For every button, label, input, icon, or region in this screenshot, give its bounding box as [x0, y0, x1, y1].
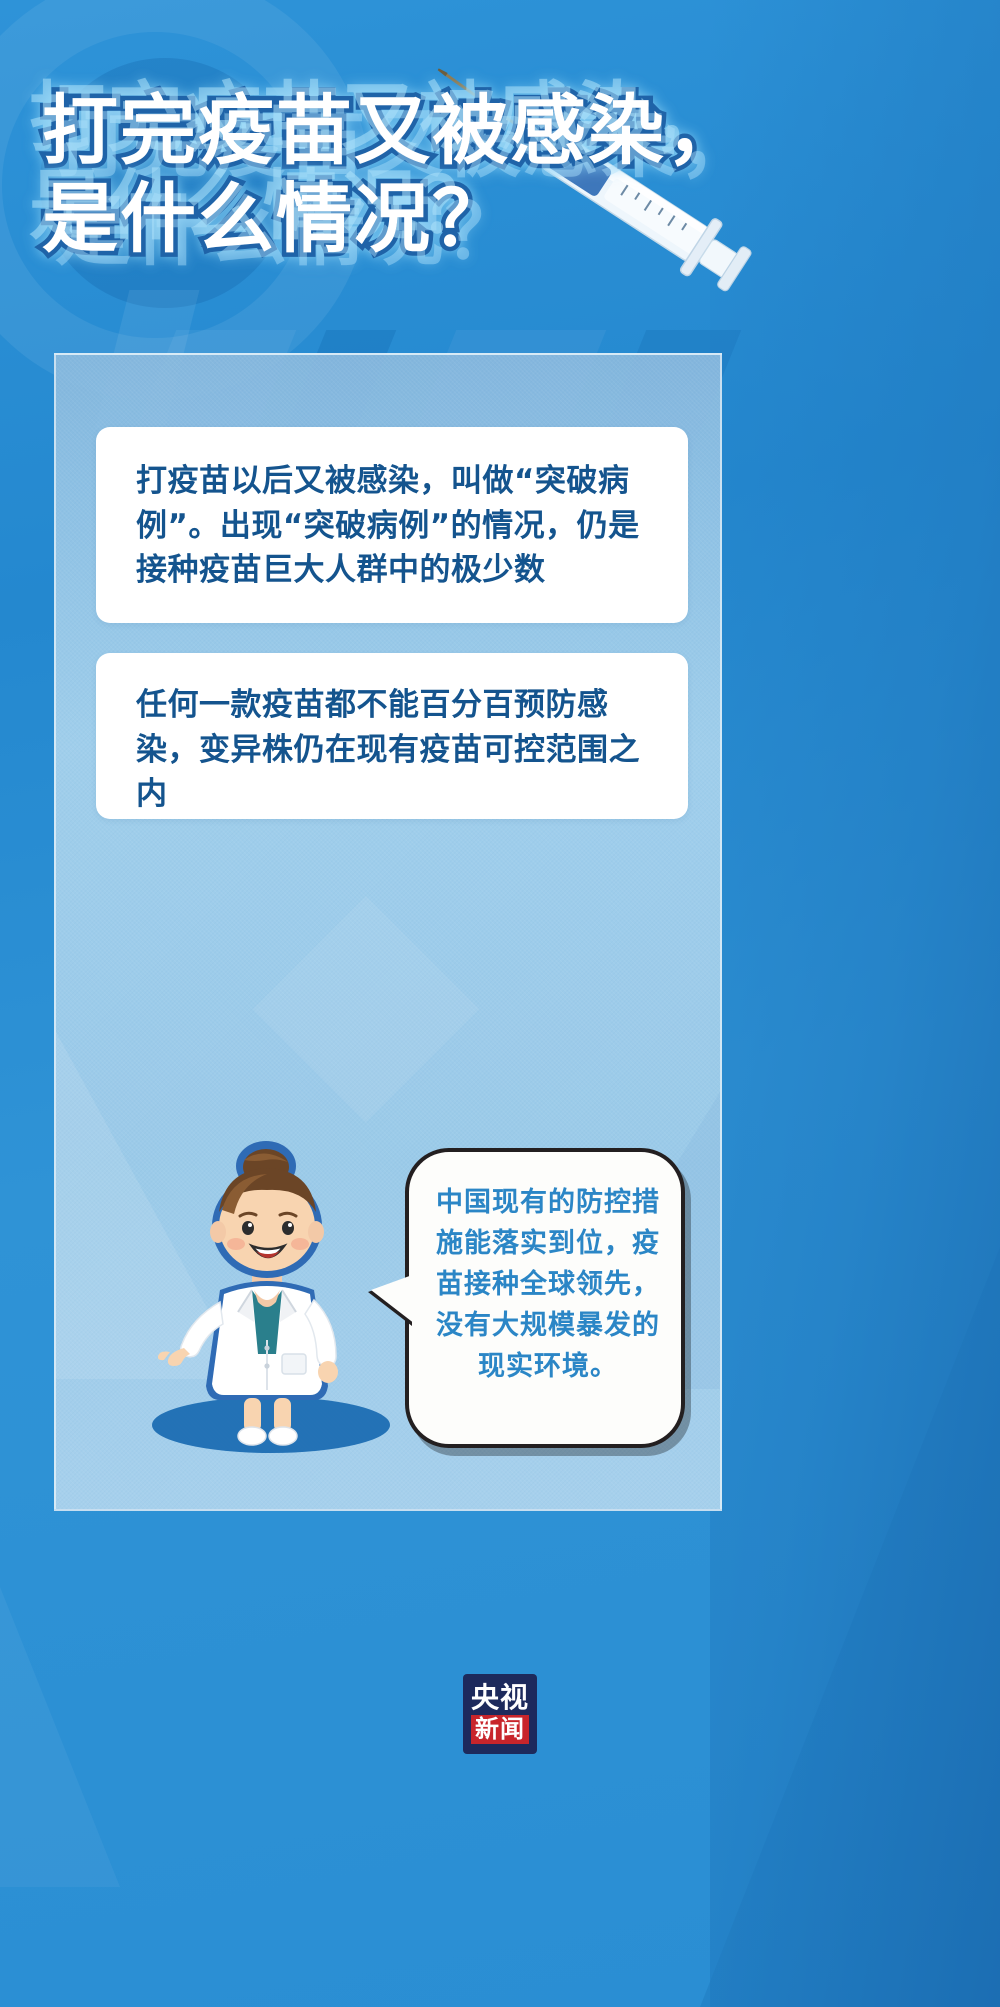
- logo-top-text: 央视: [471, 1684, 529, 1712]
- speech-bubble: 中国现有的防控措施能落实到位，疫苗接种全球领先，没有大规模暴发的现实环境。: [405, 1148, 685, 1448]
- speech-bubble-text: 中国现有的防控措施能落实到位，疫苗接种全球领先，没有大规模暴发的现实环境。: [405, 1148, 685, 1448]
- info-card: 打疫苗以后又被感染，叫做“突破病例”。出现“突破病例”的情况，仍是接种疫苗巨大人…: [96, 427, 688, 623]
- cctv-news-logo: 央视 新闻: [463, 1674, 537, 1754]
- info-card-text: 打疫苗以后又被感染，叫做“突破病例”。出现“突破病例”的情况，仍是接种疫苗巨大人…: [96, 427, 688, 593]
- doctor-character-icon: [148, 1140, 388, 1470]
- page-title-line-2: 是什么情况？: [42, 180, 802, 258]
- background-right-shade: [710, 0, 1000, 2007]
- page-title-line-1: 打完疫苗又被感染，: [42, 92, 802, 170]
- info-card: 任何一款疫苗都不能百分百预防感染，变异株仍在现有疫苗可控范围之内: [96, 653, 688, 819]
- panel-diamond-shape: [253, 896, 479, 1122]
- background-triangle-left: [0, 1587, 120, 1887]
- page-title: 打完疫苗又被感染， 是什么情况？: [42, 92, 802, 259]
- info-card-text: 任何一款疫苗都不能百分百预防感染，变异株仍在现有疫苗可控范围之内: [96, 653, 688, 817]
- logo-bottom-text: 新闻: [471, 1715, 529, 1744]
- poster-canvas: 打完疫苗又被感染， 是什么情况？ 打疫苗以后又被感染，叫做“突破病例”。出现“突…: [0, 0, 1000, 2007]
